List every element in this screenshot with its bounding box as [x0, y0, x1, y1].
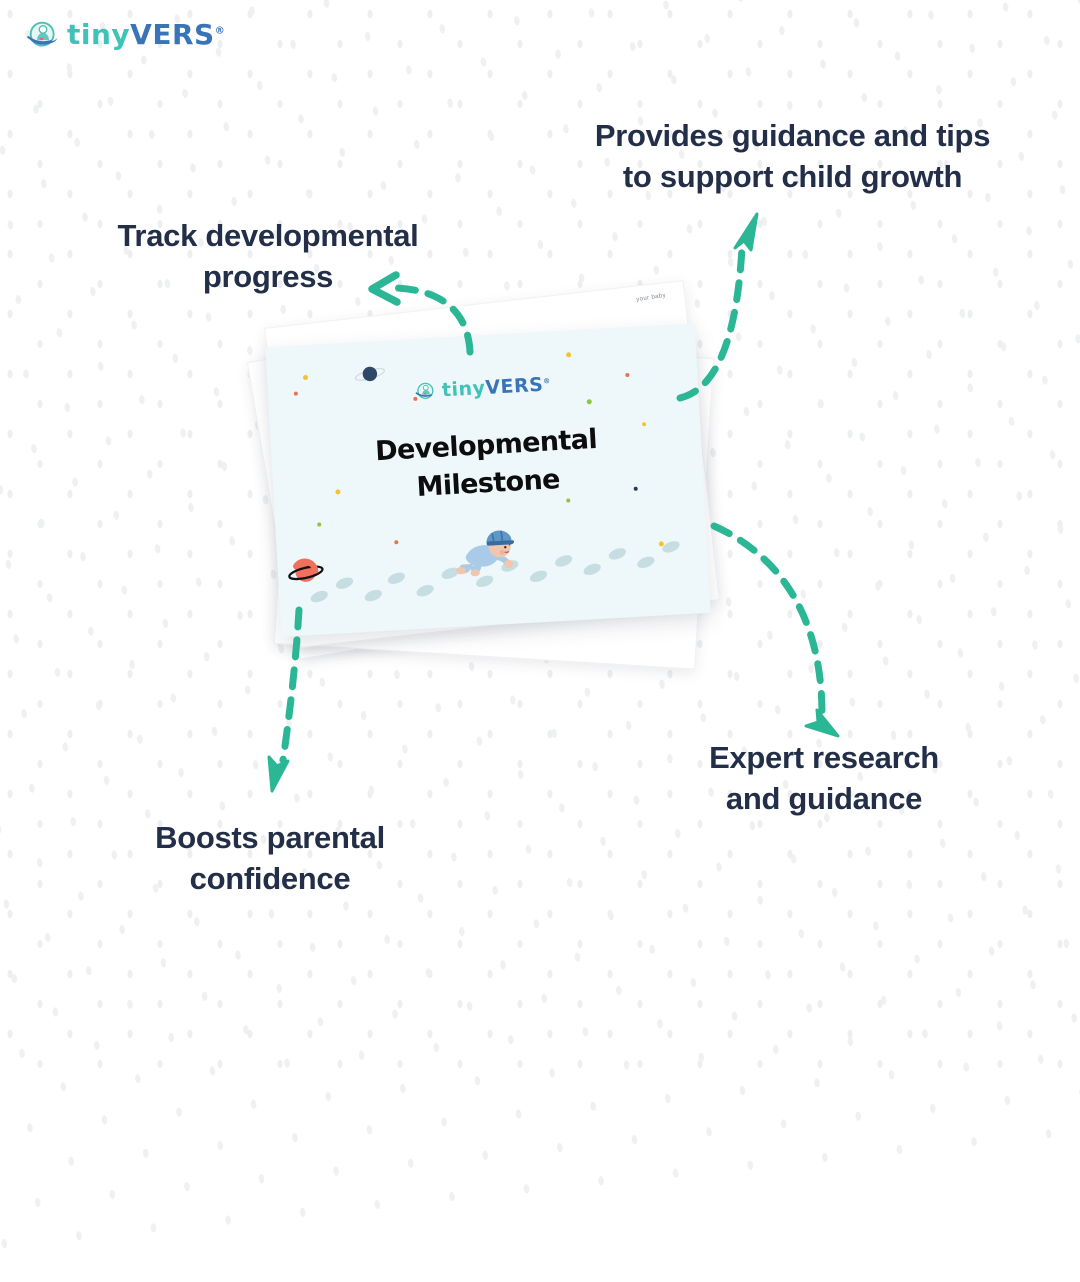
card-registered-mark: ®	[543, 377, 551, 385]
card-stack[interactable]: a your baby	[255, 285, 725, 685]
benefit-label-guidance: Provides guidance and tips to support ch…	[540, 116, 1045, 198]
back-sheet-corner-text: your baby	[636, 293, 667, 303]
benefit-label-expert: Expert research and guidance	[662, 738, 986, 820]
confetti-dot	[587, 399, 592, 404]
card-brand-word-tiny: tiny	[441, 377, 486, 401]
confetti-dot	[566, 352, 571, 357]
confetti-dot	[303, 375, 308, 380]
benefit-label-boosts: Boosts parental confidence	[96, 818, 444, 900]
card-brand-word-vers: VERS	[485, 373, 544, 398]
benefit-label-track: Track developmental progress	[56, 216, 480, 298]
arrow-to-expert	[714, 526, 838, 736]
brand-word-tiny: tiny	[67, 18, 130, 51]
card-brand-wordmark: tinyVERS®	[441, 375, 551, 400]
brand-word-vers: VERS	[130, 18, 215, 51]
brand-logo[interactable]: tinyVERS®	[26, 18, 225, 52]
crawling-baby-illustration	[452, 525, 527, 583]
brand-wordmark: tinyVERS®	[67, 21, 225, 49]
card-brand-logo: tinyVERS®	[268, 365, 699, 411]
card-title: Developmental Milestone	[270, 415, 704, 516]
confetti-dot	[317, 522, 321, 526]
mother-baby-globe-icon	[414, 380, 437, 403]
registered-mark: ®	[215, 26, 226, 37]
developmental-milestone-card[interactable]: tinyVERS® Developmental Milestone	[265, 323, 711, 637]
confetti-dot	[394, 540, 398, 544]
mother-baby-globe-icon	[26, 18, 60, 52]
